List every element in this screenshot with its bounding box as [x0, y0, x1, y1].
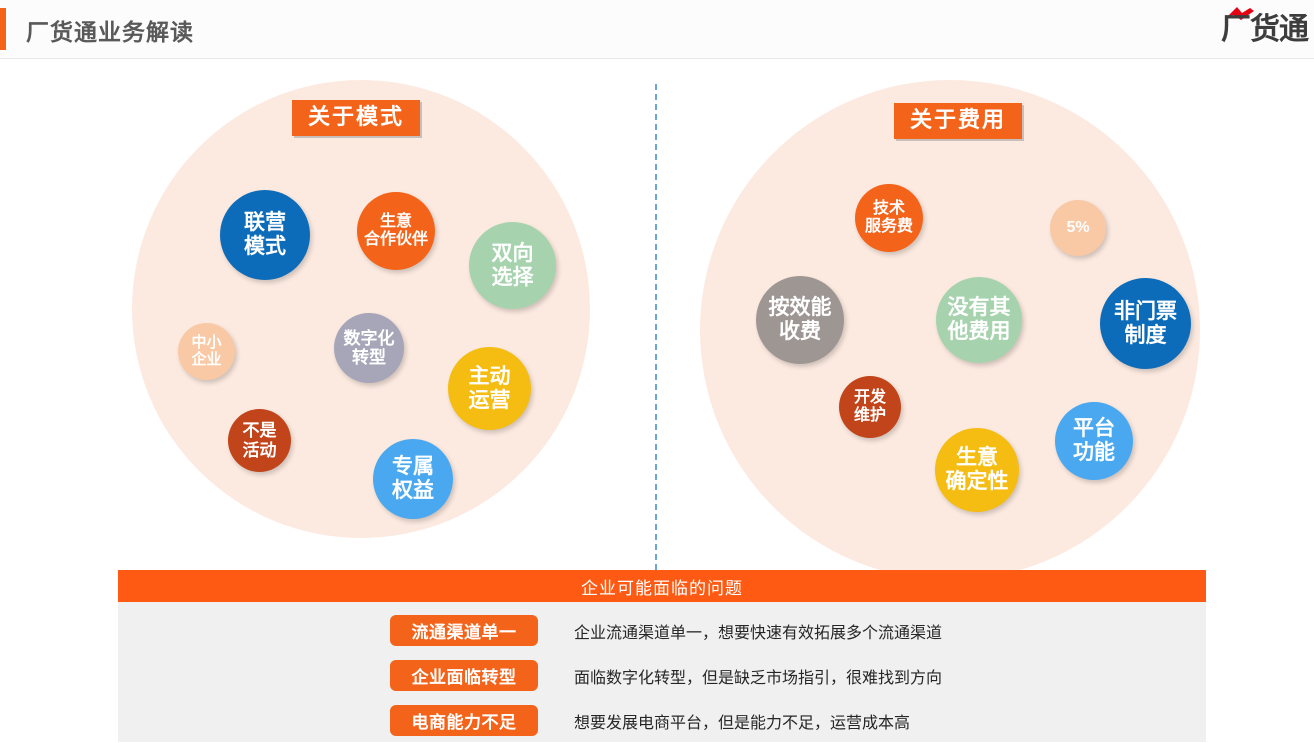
cluster-badge-mode: 关于模式	[292, 100, 420, 136]
bubble-label-line: 确定性	[946, 470, 1009, 494]
bubble-label-line: 联营	[244, 211, 286, 235]
bubble-fee-0[interactable]: 技术服务费	[855, 184, 923, 252]
problem-row: 电商能力不足想要发展电商平台，但是能力不足，运营成本高	[118, 698, 1206, 743]
problem-row: 企业面临转型面临数字化转型，但是缺乏市场指引，很难找到方向	[118, 653, 1206, 698]
header-accent-bar	[0, 8, 6, 50]
bubble-label-line: 平台	[1073, 417, 1115, 441]
cluster-badge-fee: 关于费用	[894, 103, 1022, 139]
bubble-label-line: 运营	[469, 389, 511, 413]
bubble-label-line: 生意	[956, 446, 998, 470]
bubble-mode-6[interactable]: 不是活动	[228, 409, 291, 472]
problems-panel-body: 流通渠道单一企业流通渠道单一，想要快速有效拓展多个流通渠道企业面临转型面临数字化…	[118, 602, 1206, 743]
bubble-fee-6[interactable]: 生意确定性	[935, 428, 1019, 512]
brand-logo: 厂货通	[1221, 4, 1308, 48]
bubble-fee-5[interactable]: 开发维护	[839, 376, 901, 438]
bubble-mode-1[interactable]: 生意合作伙伴	[357, 192, 435, 270]
bubble-label-line: 不是	[243, 421, 277, 440]
cluster-divider	[655, 84, 657, 570]
problem-badge[interactable]: 电商能力不足	[390, 705, 538, 736]
problem-badge[interactable]: 流通渠道单一	[390, 615, 538, 646]
bubble-label-line: 5%	[1066, 219, 1089, 237]
bubble-fee-2[interactable]: 按效能收费	[756, 276, 844, 364]
bubble-label-line: 企业	[191, 352, 221, 369]
bubble-label-line: 制度	[1125, 324, 1167, 348]
bubble-label-line: 按效能	[769, 296, 832, 320]
problem-row: 流通渠道单一企业流通渠道单一，想要快速有效拓展多个流通渠道	[118, 608, 1206, 653]
bubble-mode-0[interactable]: 联营模式	[220, 190, 310, 280]
page-header: 厂货通业务解读 厂货通	[0, 0, 1314, 59]
bubble-label-line: 权益	[392, 479, 434, 503]
problem-description: 想要发展电商平台，但是能力不足，运营成本高	[574, 709, 910, 733]
bubble-mode-3[interactable]: 中小企业	[178, 323, 235, 380]
bubble-label-line: 非门票	[1114, 300, 1177, 324]
bubble-label-line: 中小	[191, 335, 221, 352]
bubble-label-line: 模式	[244, 235, 286, 259]
problem-description: 企业流通渠道单一，想要快速有效拓展多个流通渠道	[574, 619, 942, 643]
bubble-label-line: 转型	[352, 348, 386, 367]
bubble-label-line: 选择	[492, 266, 534, 290]
bubble-label-line: 技术	[873, 200, 905, 218]
bubble-label-line: 活动	[243, 441, 277, 460]
bubble-label-line: 没有其	[948, 296, 1011, 320]
bubble-label-line: 开发	[854, 389, 886, 407]
problem-badge[interactable]: 企业面临转型	[390, 660, 538, 691]
bubble-mode-7[interactable]: 专属权益	[373, 439, 453, 519]
cluster-mode	[132, 80, 590, 538]
problems-panel-title: 企业可能面临的问题	[118, 570, 1206, 602]
bubble-label-line: 生意	[380, 213, 412, 231]
bubble-label-line: 收费	[779, 320, 821, 344]
bubble-label-line: 功能	[1073, 441, 1115, 465]
bubble-mode-2[interactable]: 双向选择	[469, 222, 556, 309]
bubble-mode-4[interactable]: 数字化转型	[334, 313, 404, 383]
bubble-fee-3[interactable]: 没有其他费用	[936, 277, 1022, 363]
page-title: 厂货通业务解读	[26, 13, 194, 47]
bubble-fee-4[interactable]: 非门票制度	[1100, 278, 1191, 369]
problems-panel: 企业可能面临的问题 流通渠道单一企业流通渠道单一，想要快速有效拓展多个流通渠道企…	[118, 570, 1206, 742]
bubble-label-line: 维护	[854, 407, 886, 425]
bubble-label-line: 双向	[492, 242, 534, 266]
bubble-label-line: 他费用	[948, 320, 1011, 344]
bubble-fee-7[interactable]: 平台功能	[1055, 402, 1133, 480]
bubble-label-line: 专属	[392, 455, 434, 479]
bubble-mode-5[interactable]: 主动运营	[448, 347, 531, 430]
bubble-label-line: 数字化	[344, 329, 395, 348]
bubble-label-line: 合作伙伴	[364, 231, 428, 249]
bubble-label-line: 主动	[469, 365, 511, 389]
problem-description: 面临数字化转型，但是缺乏市场指引，很难找到方向	[574, 664, 942, 688]
bubble-fee-1[interactable]: 5%	[1050, 200, 1106, 256]
bubble-label-line: 服务费	[865, 218, 913, 236]
